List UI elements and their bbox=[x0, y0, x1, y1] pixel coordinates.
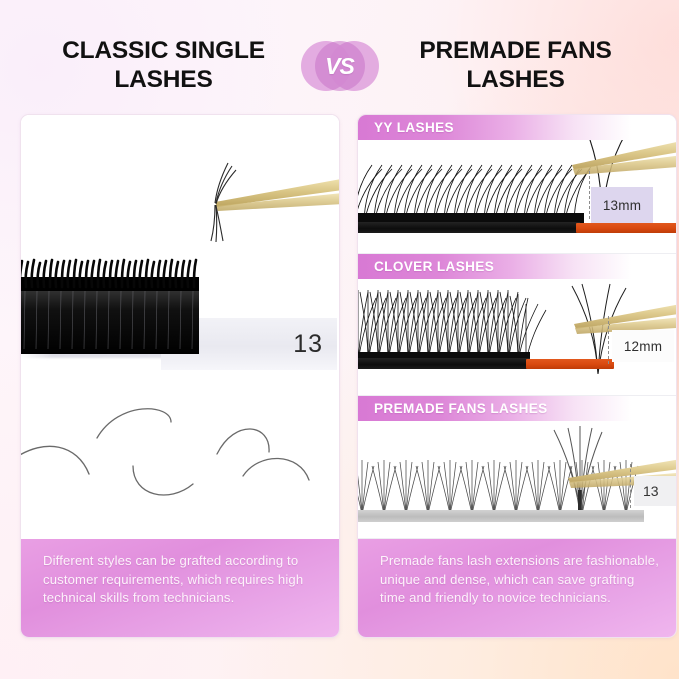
classic-caption: Different styles can be grafted accordin… bbox=[21, 539, 339, 637]
premade-caption: Premade fans lash extensions are fashion… bbox=[358, 539, 676, 637]
row-label-yy-lashes: YY LASHES bbox=[358, 115, 676, 140]
vs-badge-label: VS bbox=[325, 53, 354, 80]
row-label-premade-fans-lashes: PREMADE FANS LASHES bbox=[358, 396, 676, 421]
clover-measurement-label: 12mm bbox=[612, 330, 674, 362]
classic-single-lashes-card[interactable]: 13 bbox=[20, 114, 340, 638]
tweezer-icon bbox=[203, 157, 339, 247]
vs-badge: VS bbox=[301, 38, 379, 94]
classic-strip-photo: 13 bbox=[21, 115, 339, 380]
left-column: 13 bbox=[20, 114, 340, 638]
clover-strip-base bbox=[358, 358, 530, 369]
page-title-left: CLASSIC SINGLE LASHES bbox=[31, 37, 301, 94]
row-clover-lashes[interactable]: CLOVER LASHES bbox=[358, 254, 676, 395]
premade-measure-guide bbox=[630, 464, 631, 508]
premade-measurement-label: 13 bbox=[634, 476, 676, 506]
header: CLASSIC SINGLE LASHES VS PREMADE FANS LA… bbox=[0, 30, 679, 102]
curled-lashes-icon bbox=[21, 380, 339, 539]
right-column: YY LASHES bbox=[357, 114, 677, 638]
comparison-infographic: CLASSIC SINGLE LASHES VS PREMADE FANS LA… bbox=[0, 0, 679, 679]
clover-red-band bbox=[526, 359, 614, 369]
clover-measure-guide bbox=[608, 316, 609, 364]
yy-measure-guide bbox=[589, 171, 590, 219]
row-premade-fans-lashes[interactable]: PREMADE FANS LASHES bbox=[358, 396, 676, 539]
premade-fans-lashes-card[interactable]: YY LASHES bbox=[357, 114, 677, 638]
row-yy-lashes[interactable]: YY LASHES bbox=[358, 115, 676, 254]
yy-red-band bbox=[576, 223, 676, 233]
tweezer-icon bbox=[566, 137, 676, 189]
page-title-right: PREMADE FANS LASHES bbox=[379, 37, 649, 94]
premade-strip-base bbox=[358, 510, 644, 522]
yy-strip-base bbox=[358, 222, 580, 233]
yy-measurement-label: 13mm bbox=[591, 187, 653, 223]
row-label-clover-lashes: CLOVER LASHES bbox=[358, 254, 676, 279]
comparison-columns: 13 bbox=[0, 114, 679, 638]
lash-strip-artwork bbox=[21, 257, 199, 354]
classic-card-body: 13 bbox=[21, 115, 339, 539]
clover-fan-lashes-icon bbox=[358, 290, 554, 362]
